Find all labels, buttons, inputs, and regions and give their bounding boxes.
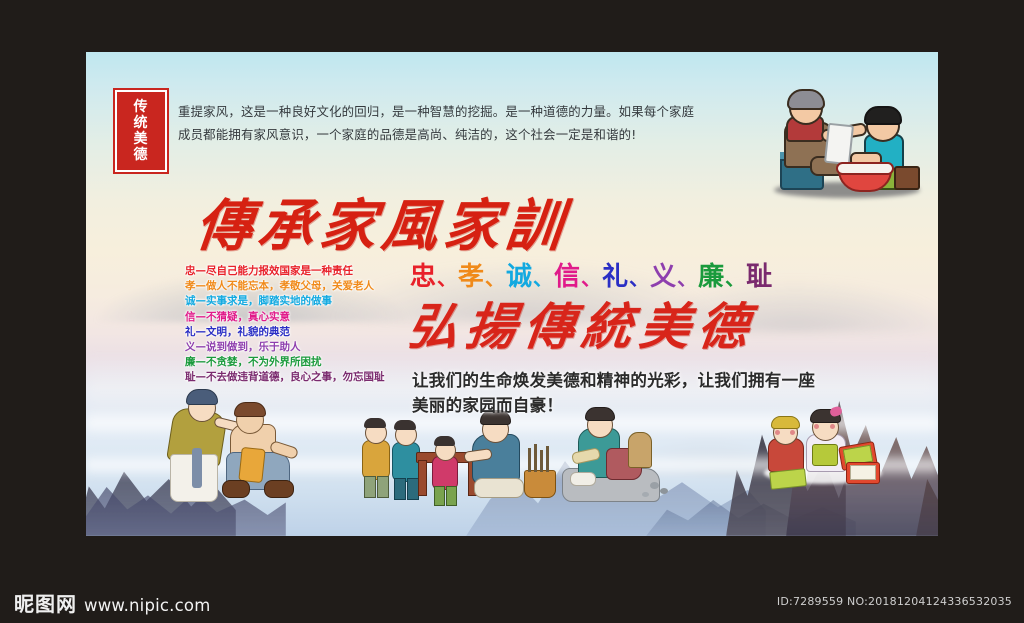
list-item: 孝—做人不能忘本，孝敬父母，关爱老人 — [185, 279, 415, 294]
traditional-virtue-seal: 传 统 美 德 — [113, 88, 169, 174]
closing-statement: 让我们的生命焕发美德和精神的光彩，让我们拥有一座 美丽的家园而自豪！ — [412, 368, 882, 418]
illustration-grandmother-foot-washing — [766, 86, 926, 198]
closing-line-1: 让我们的生命焕发美德和精神的光彩，让我们拥有一座 — [412, 368, 882, 393]
poster-canvas: 传 统 美 德 重提家风，这是一种良好文化的回归，是一种智慧的挖掘。是一种道德的… — [86, 52, 938, 536]
site-url: www.nipic.com — [84, 596, 210, 615]
illustration-mother-tattooing-son — [148, 388, 328, 504]
virtue-char-6: 义 — [650, 262, 677, 292]
virtue-separator: 、 — [533, 263, 554, 293]
virtue-separator: 、 — [725, 263, 746, 293]
list-item: 诚—实事求是，脚踏实地的做事 — [185, 294, 415, 309]
list-item: 忠—尽自己能力报效国家是一种责任 — [185, 264, 415, 279]
page-title-sub: 弘揚傳統美德 — [405, 300, 760, 354]
virtue-char-8: 耻 — [746, 262, 773, 292]
asset-id-label: ID:7289559 NO:20181204124336532035 — [777, 595, 1012, 608]
virtue-char-2: 孝 — [458, 262, 485, 292]
virtue-char-7: 廉 — [698, 262, 725, 292]
site-name-cn: 昵图网 — [14, 588, 77, 617]
virtue-separator: 、 — [485, 263, 506, 293]
illustration-family-teaching-children — [358, 408, 568, 514]
site-watermark: 昵图网 www.nipic.com — [14, 588, 210, 617]
page-title-main: 傳承家風家訓 — [193, 196, 571, 256]
virtue-separator: 、 — [581, 263, 602, 293]
virtue-separator: 、 — [437, 263, 458, 293]
virtue-separator: 、 — [629, 263, 650, 293]
seal-char-2: 统 — [134, 116, 149, 131]
list-item: 廉—不贪婪，不为外界所困扰 — [185, 355, 415, 370]
eight-virtues-row: 忠、孝、诚、信、礼、义、廉、耻 — [410, 262, 773, 293]
intro-line-1: 重提家风，这是一种良好文化的回归，是一种智慧的挖掘。是一种道德的力量。如果每个家… — [178, 100, 753, 123]
virtue-char-1: 忠 — [410, 262, 437, 292]
virtue-separator: 、 — [677, 263, 698, 293]
seal-char-4: 德 — [134, 148, 149, 163]
virtue-char-3: 诚 — [506, 262, 533, 292]
intro-paragraph: 重提家风，这是一种良好文化的回归，是一种智慧的挖掘。是一种道德的力量。如果每个家… — [178, 100, 753, 146]
screenshot-root: 传 统 美 德 重提家风，这是一种良好文化的回归，是一种智慧的挖掘。是一种道德的… — [0, 0, 1024, 623]
virtue-char-5: 礼 — [602, 262, 629, 292]
virtue-char-4: 信 — [554, 262, 581, 292]
seal-char-3: 美 — [134, 132, 149, 147]
closing-line-2: 美丽的家园而自豪！ — [412, 393, 882, 418]
virtue-explanation-list: 忠—尽自己能力报效国家是一种责任 孝—做人不能忘本，孝敬父母，关爱老人 诚—实事… — [185, 264, 415, 386]
list-item: 礼—文明，礼貌的典范 — [185, 325, 415, 340]
list-item: 耻—不去做违背道德，良心之事，勿忘国耻 — [185, 370, 415, 385]
intro-line-2: 成员都能拥有家风意识，一个家庭的品德是高尚、纯洁的，这个社会一定是和谐的! — [178, 123, 753, 146]
list-item: 信—不猜疑，真心实意 — [185, 310, 415, 325]
illustration-scholar-on-rock — [554, 410, 684, 506]
list-item: 义—说到做到，乐于助人 — [185, 340, 415, 355]
seal-char-1: 传 — [134, 100, 149, 115]
